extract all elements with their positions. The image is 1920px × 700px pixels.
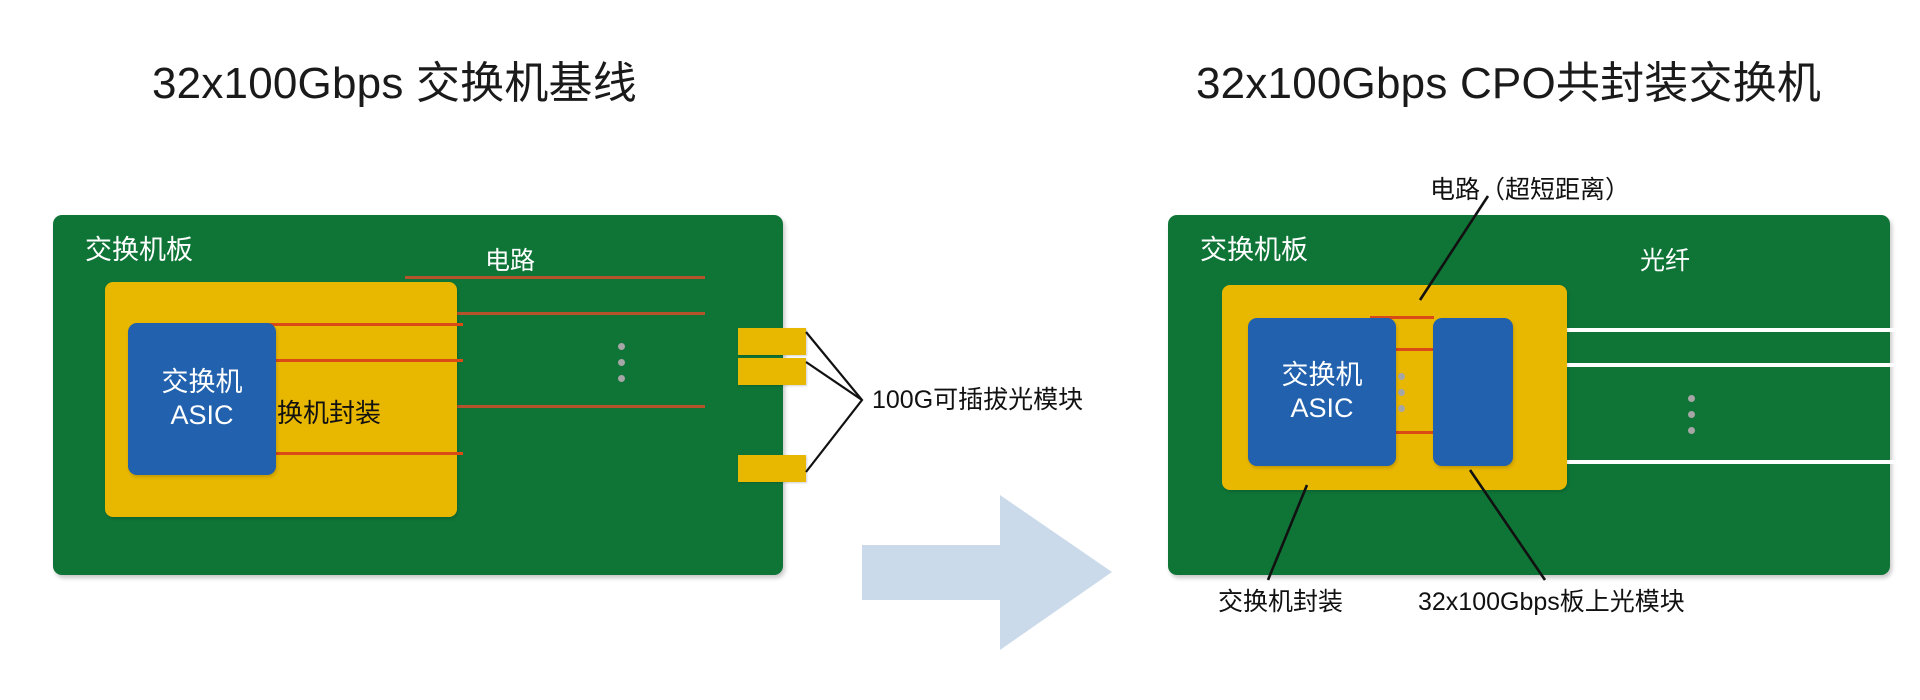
left-pkg-trace-top	[253, 323, 463, 326]
left-asic-label-line2: ASIC	[170, 399, 233, 432]
fiber-overhang-2	[1890, 363, 1920, 367]
pluggable-module-3	[738, 455, 806, 482]
fiber-line-2	[1513, 363, 1920, 367]
right-fiber-label: 光纤	[1640, 249, 1690, 274]
left-trace-top	[405, 276, 705, 279]
right-panel-title: 32x100Gbps CPO共封装交换机	[1196, 62, 1821, 106]
left-board-label: 交换机板	[85, 237, 193, 264]
left-switch-asic: 交换机 ASIC	[128, 323, 276, 475]
right-asic-label-line2: ASIC	[1290, 392, 1353, 425]
left-pkg-trace-bottom	[253, 452, 463, 455]
on-board-optical-module	[1433, 318, 1513, 466]
fiber-line-1	[1513, 328, 1920, 332]
right-fiber-ellipsis	[1688, 395, 1695, 434]
right-pkg-ellipsis	[1398, 373, 1405, 412]
fiber-overhang-3	[1890, 460, 1920, 464]
right-switch-asic: 交换机 ASIC	[1248, 318, 1396, 466]
pluggable-module-2	[738, 358, 806, 385]
pluggable-module-1	[738, 328, 806, 355]
left-pkg-trace-mid	[253, 359, 463, 362]
left-panel-title: 32x100Gbps 交换机基线	[152, 62, 637, 106]
left-asic-label-line1: 交换机	[162, 366, 243, 399]
right-asic-label-line1: 交换机	[1282, 359, 1363, 392]
fiber-overhang-1	[1890, 328, 1920, 332]
diagram-canvas: 32x100Gbps 交换机基线 32x100Gbps CPO共封装交换机 交换…	[0, 0, 1920, 700]
left-trace-label: 电路	[485, 249, 535, 274]
fiber-line-3	[1513, 460, 1920, 464]
pluggable-module-label: 100G可插拔光模块	[872, 388, 1083, 413]
left-edge-ellipsis	[618, 343, 625, 382]
right-package-label: 交换机封装	[1218, 590, 1343, 615]
right-trace-label: 电路（超短距离）	[1430, 178, 1630, 203]
on-board-optical-module-label: 32x100Gbps板上光模块	[1418, 590, 1685, 615]
right-board-label: 交换机板	[1200, 237, 1308, 264]
